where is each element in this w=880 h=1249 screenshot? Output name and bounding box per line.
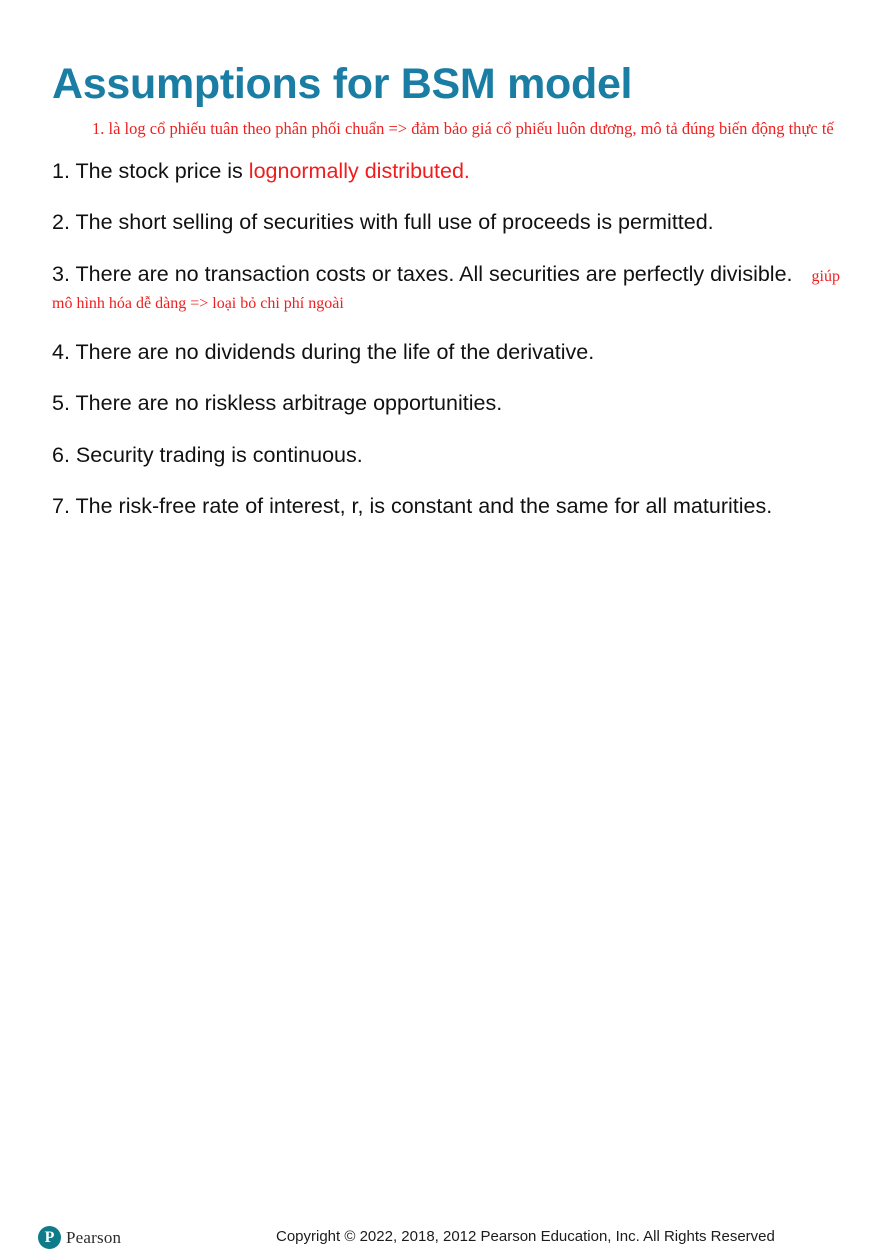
list-item: 6. Security trading is continuous.: [52, 442, 852, 469]
list-item-text: The short selling of securities with ful…: [76, 210, 714, 234]
list-item-text: The stock price is: [76, 159, 243, 183]
annotation-top-note: 1. là log cổ phiếu tuân theo phân phối c…: [92, 118, 852, 139]
list-item: 2. The short selling of securities with …: [52, 209, 852, 236]
list-item: 3. There are no transaction costs or tax…: [52, 261, 852, 316]
list-item-text: There are no dividends during the life o…: [76, 340, 595, 364]
list-item: 4. There are no dividends during the lif…: [52, 339, 852, 366]
copyright-text: Copyright © 2022, 2018, 2012 Pearson Edu…: [276, 1228, 775, 1245]
list-item: 1. The stock price is lognormally distri…: [52, 158, 852, 185]
list-item-number: 7.: [52, 494, 70, 518]
list-item-number: 4.: [52, 340, 70, 364]
slide-footer: Pearson Copyright © 2022, 2018, 2012 Pea…: [0, 608, 880, 656]
assumption-list: 1. The stock price is lognormally distri…: [52, 158, 852, 520]
list-item-number: 3.: [52, 262, 70, 286]
list-item: 5. There are no riskless arbitrage oppor…: [52, 390, 852, 417]
list-item: 7. The risk-free rate of interest, r, is…: [52, 493, 852, 520]
list-item-text: There are no riskless arbitrage opportun…: [76, 391, 503, 415]
list-item-text: The risk-free rate of interest, r, is co…: [76, 494, 773, 518]
pearson-wordmark: Pearson: [66, 1228, 121, 1248]
list-item-number: 2.: [52, 210, 70, 234]
page-title: Assumptions for BSM model: [52, 62, 632, 107]
pearson-logo: Pearson: [38, 1226, 121, 1249]
slide-canvas: Assumptions for BSM model 1. là log cổ p…: [0, 0, 880, 660]
list-item-number: 6.: [52, 443, 70, 467]
list-item-number: 5.: [52, 391, 70, 415]
list-item-text: Security trading is continuous.: [76, 443, 363, 467]
list-item-text: There are no transaction costs or taxes.…: [76, 262, 793, 286]
pearson-p-icon: [38, 1226, 61, 1249]
list-item-highlight: lognormally distributed.: [249, 159, 470, 183]
list-item-number: 1.: [52, 159, 70, 183]
